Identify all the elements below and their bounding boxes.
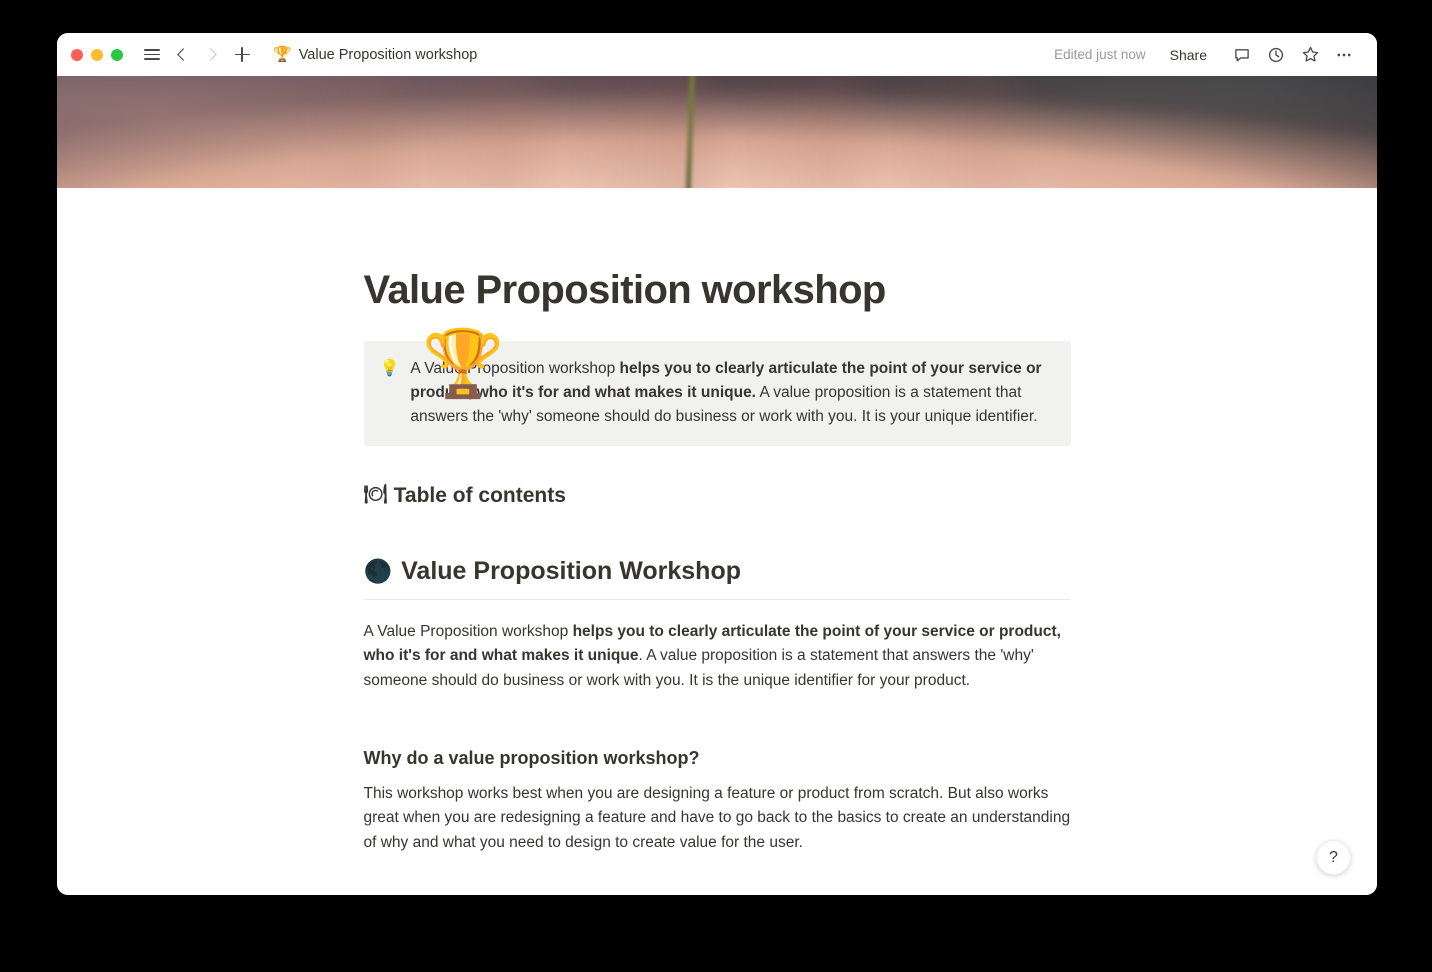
- page-history-button[interactable]: [1261, 40, 1291, 70]
- section-heading[interactable]: 🌑 Value Proposition Workshop: [364, 555, 1071, 599]
- plus-icon: [235, 47, 250, 62]
- section-heading-label: Value Proposition Workshop: [401, 555, 741, 588]
- comment-icon: [1233, 46, 1251, 64]
- app-window: 🏆 Value Proposition workshop Edited just…: [57, 33, 1377, 895]
- breadcrumb[interactable]: 🏆 Value Proposition workshop: [266, 44, 484, 66]
- subsection-paragraph[interactable]: This workshop works best when you are de…: [364, 782, 1071, 856]
- forward-button[interactable]: [198, 41, 226, 69]
- chevron-left-icon: [177, 48, 190, 61]
- page-icon-trophy-icon[interactable]: 🏆: [422, 330, 504, 396]
- more-options-button[interactable]: [1329, 40, 1359, 70]
- cover-hands-detail: [57, 76, 1377, 188]
- favorite-button[interactable]: [1295, 40, 1325, 70]
- share-button[interactable]: Share: [1161, 43, 1216, 67]
- sidebar-toggle-button[interactable]: [138, 41, 166, 69]
- section-divider: [364, 599, 1071, 600]
- new-page-button[interactable]: [228, 41, 256, 69]
- titlebar-actions: Edited just now Share: [1054, 40, 1359, 70]
- callout-text: A Value Proposition workshop helps you t…: [410, 357, 1054, 429]
- back-button[interactable]: [168, 41, 196, 69]
- plate-cutlery-icon: 🍽: [364, 483, 388, 508]
- page-title[interactable]: Value Proposition workshop: [364, 188, 1071, 314]
- ellipsis-icon: [1335, 46, 1353, 64]
- star-icon: [1301, 45, 1320, 64]
- clock-icon: [1267, 46, 1285, 64]
- title-bar: 🏆 Value Proposition workshop Edited just…: [57, 33, 1377, 76]
- traffic-lights: [71, 49, 123, 61]
- close-window-button[interactable]: [71, 49, 83, 61]
- nav-controls: [138, 41, 256, 69]
- help-button[interactable]: ?: [1316, 840, 1351, 875]
- page-content: Value Proposition workshop 💡 A Value Pro…: [364, 188, 1071, 855]
- comments-button[interactable]: [1227, 40, 1257, 70]
- maximize-window-button[interactable]: [111, 49, 123, 61]
- moon-icon: 🌑: [364, 557, 393, 587]
- section-paragraph[interactable]: A Value Proposition workshop helps you t…: [364, 620, 1071, 694]
- page-cover-image[interactable]: [57, 76, 1377, 188]
- edited-status: Edited just now: [1054, 47, 1146, 62]
- minimize-window-button[interactable]: [91, 49, 103, 61]
- hamburger-icon: [144, 49, 160, 60]
- breadcrumb-title: Value Proposition workshop: [299, 47, 478, 63]
- subsection-heading[interactable]: Why do a value proposition workshop?: [364, 747, 1071, 770]
- trophy-icon: 🏆: [273, 47, 292, 62]
- section-paragraph-lead: A Value Proposition workshop: [364, 623, 573, 640]
- chevron-right-icon: [204, 48, 217, 61]
- table-of-contents-heading[interactable]: 🍽 Table of contents: [364, 482, 1071, 509]
- page-body: 🏆 Value Proposition workshop 💡 A Value P…: [57, 188, 1377, 895]
- lightbulb-icon: 💡: [380, 357, 400, 429]
- table-of-contents-label: Table of contents: [394, 482, 566, 509]
